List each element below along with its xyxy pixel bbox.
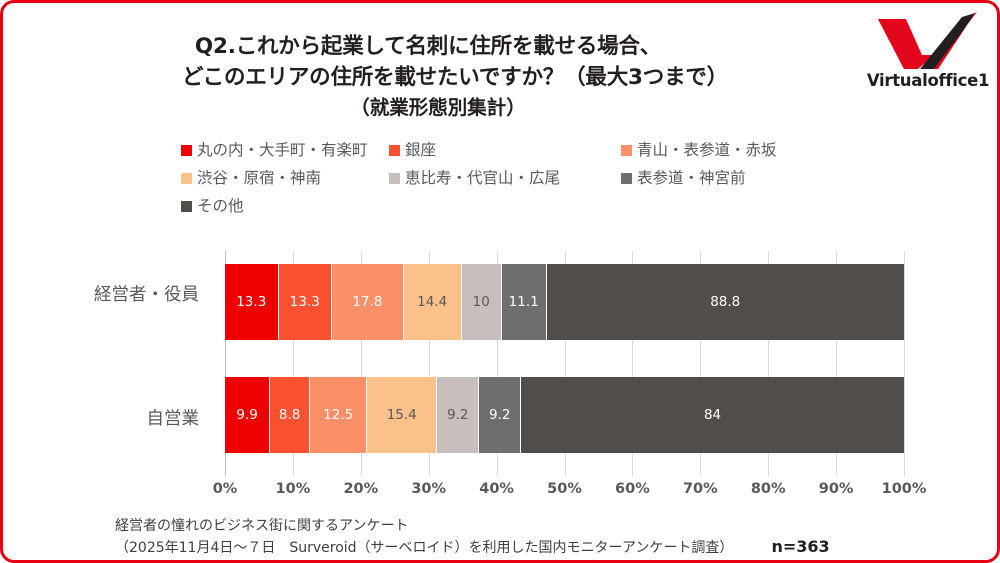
bar-segment[interactable]: 15.4 <box>367 377 437 453</box>
virtualoffice1-logo: Virtualoffice1 <box>869 11 987 107</box>
legend-item[interactable]: 丸の内・大手町・有楽町 <box>181 141 368 159</box>
bar-segment[interactable]: 14.4 <box>404 264 462 340</box>
chart-legend: 丸の内・大手町・有楽町銀座青山・表参道・赤坂渋谷・原宿・神南恵比寿・代官山・広尾… <box>181 141 861 225</box>
legend-row: 丸の内・大手町・有楽町銀座青山・表参道・赤坂 <box>181 141 861 169</box>
footnote-line-1: 経営者の憧れのビジネス街に関するアンケート <box>115 515 915 537</box>
legend-item[interactable]: 渋谷・原宿・神南 <box>181 169 321 187</box>
x-axis-tick-label: 0% <box>213 481 238 497</box>
bar-segment[interactable]: 17.8 <box>332 264 404 340</box>
legend-item[interactable]: 表参道・神宮前 <box>621 169 746 187</box>
legend-swatch-icon <box>389 145 400 156</box>
bar-row: 13.313.317.814.41011.188.8 <box>225 264 904 340</box>
legend-swatch-icon <box>389 173 400 184</box>
x-axis-tick-label: 100% <box>882 481 927 497</box>
legend-label: 丸の内・大手町・有楽町 <box>197 141 368 159</box>
bar-segment[interactable]: 13.3 <box>279 264 333 340</box>
legend-item[interactable]: 恵比寿・代官山・広尾 <box>389 169 560 187</box>
title-subtitle: （就業形態別集計） <box>3 94 873 122</box>
page-title: Q2.これから起業して名刺に住所を載せる場合、 どこのエリアの住所を載せたいです… <box>3 31 873 122</box>
x-axis-tick-label: 90% <box>819 481 854 497</box>
x-axis-tick-label: 30% <box>411 481 446 497</box>
x-axis-tick-label: 80% <box>751 481 786 497</box>
title-line-2: どこのエリアの住所を載せたいですか？（最大3つまで） <box>3 62 873 93</box>
x-axis-tick-label: 50% <box>547 481 582 497</box>
legend-item[interactable]: その他 <box>181 197 244 215</box>
legend-label: 表参道・神宮前 <box>637 169 746 187</box>
legend-item[interactable]: 青山・表参道・赤坂 <box>621 141 777 159</box>
x-axis-tick-label: 20% <box>343 481 378 497</box>
logo-wordmark: Virtualoffice1 <box>867 71 989 90</box>
bar-segment[interactable]: 84 <box>521 377 904 453</box>
x-axis-tick-label: 60% <box>615 481 650 497</box>
slide-canvas: Virtualoffice1 Q2.これから起業して名刺に住所を載せる場合、 ど… <box>0 0 1000 563</box>
bar-segment[interactable]: 8.8 <box>270 377 310 453</box>
legend-label: 恵比寿・代官山・広尾 <box>405 169 560 187</box>
bar-segment[interactable]: 88.8 <box>547 264 904 340</box>
footnote: 経営者の憧れのビジネス街に関するアンケート （2025年11月4日〜７日 Sur… <box>115 515 915 559</box>
bar-segment[interactable]: 9.9 <box>225 377 270 453</box>
x-axis-tick-label: 70% <box>683 481 718 497</box>
legend-swatch-icon <box>621 173 632 184</box>
chart-plot-area: 13.313.317.814.41011.188.8 9.98.812.515.… <box>225 251 904 476</box>
legend-row: その他 <box>181 197 861 225</box>
legend-label: 銀座 <box>405 141 436 159</box>
title-line-1: Q2.これから起業して名刺に住所を載せる場合、 <box>3 31 873 62</box>
bar-segment[interactable]: 9.2 <box>479 377 521 453</box>
legend-item[interactable]: 銀座 <box>389 141 436 159</box>
category-label: 自営業 <box>15 405 215 430</box>
bar-segment[interactable]: 12.5 <box>310 377 367 453</box>
legend-swatch-icon <box>181 145 192 156</box>
checkmark-logo-icon <box>876 11 980 73</box>
legend-label: 渋谷・原宿・神南 <box>197 169 321 187</box>
legend-row: 渋谷・原宿・神南恵比寿・代官山・広尾表参道・神宮前 <box>181 169 861 197</box>
bar-row: 9.98.812.515.49.29.284 <box>225 377 904 453</box>
bar-segment[interactable]: 10 <box>462 264 502 340</box>
bar-segment[interactable]: 11.1 <box>502 264 547 340</box>
bar-segment[interactable]: 13.3 <box>225 264 279 340</box>
x-axis-tick-label: 40% <box>479 481 514 497</box>
legend-swatch-icon <box>181 173 192 184</box>
x-axis-tick-label: 10% <box>276 481 311 497</box>
x-axis: 0%10%20%30%40%50%60%70%80%90%100% <box>225 481 904 503</box>
legend-label: 青山・表参道・赤坂 <box>637 141 777 159</box>
legend-swatch-icon <box>621 145 632 156</box>
legend-label: その他 <box>197 197 244 215</box>
legend-swatch-icon <box>181 201 192 212</box>
bar-segment[interactable]: 9.2 <box>437 377 479 453</box>
footnote-line-2: （2025年11月4日〜７日 Surveroid（サーベロイド）を利用した国内モ… <box>115 537 733 559</box>
category-label: 経営者・役員 <box>15 281 215 306</box>
sample-size-label: n=363 <box>771 537 829 556</box>
gridline <box>904 251 905 476</box>
